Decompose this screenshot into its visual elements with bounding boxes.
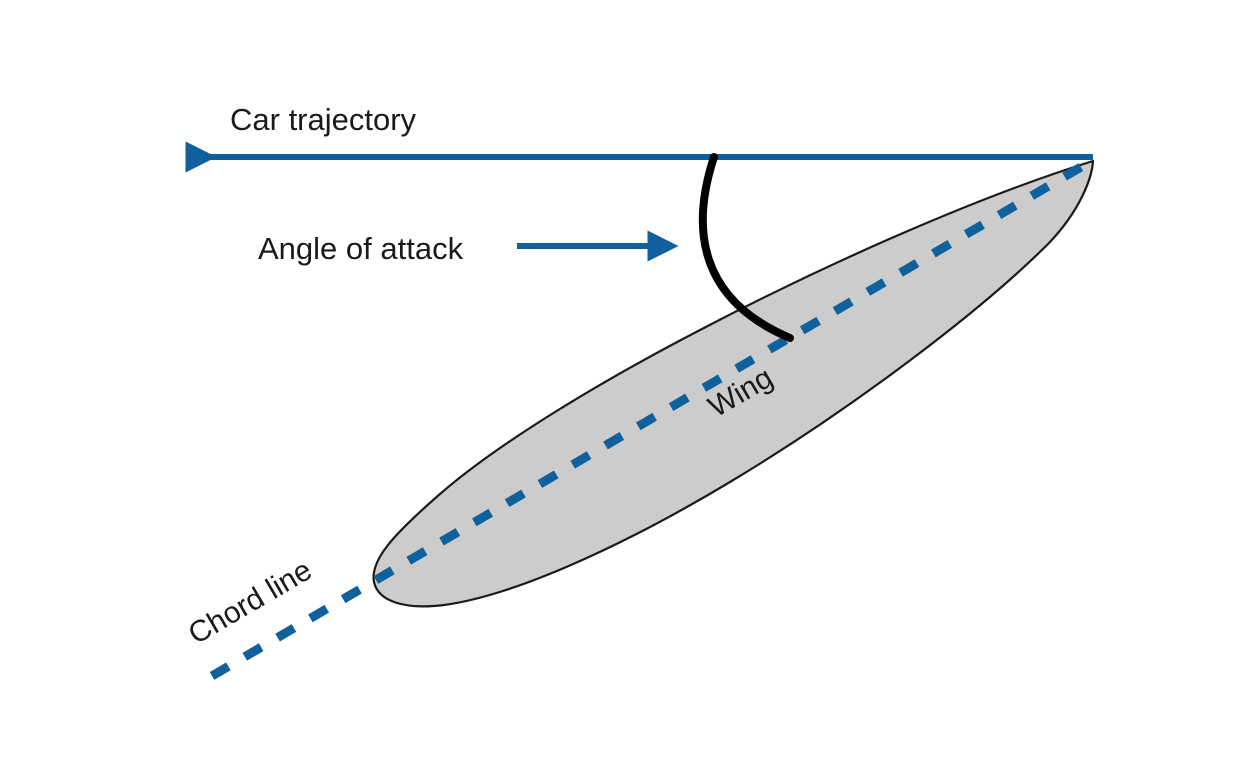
label-chord-line: Chord line xyxy=(183,554,318,651)
diagram-canvas: Car trajectory Angle of attack Wing Chor… xyxy=(0,0,1248,768)
label-angle-of-attack: Angle of attack xyxy=(258,231,464,266)
angle-of-attack-diagram: Car trajectory Angle of attack Wing Chor… xyxy=(0,0,1248,768)
label-car-trajectory: Car trajectory xyxy=(230,102,417,137)
